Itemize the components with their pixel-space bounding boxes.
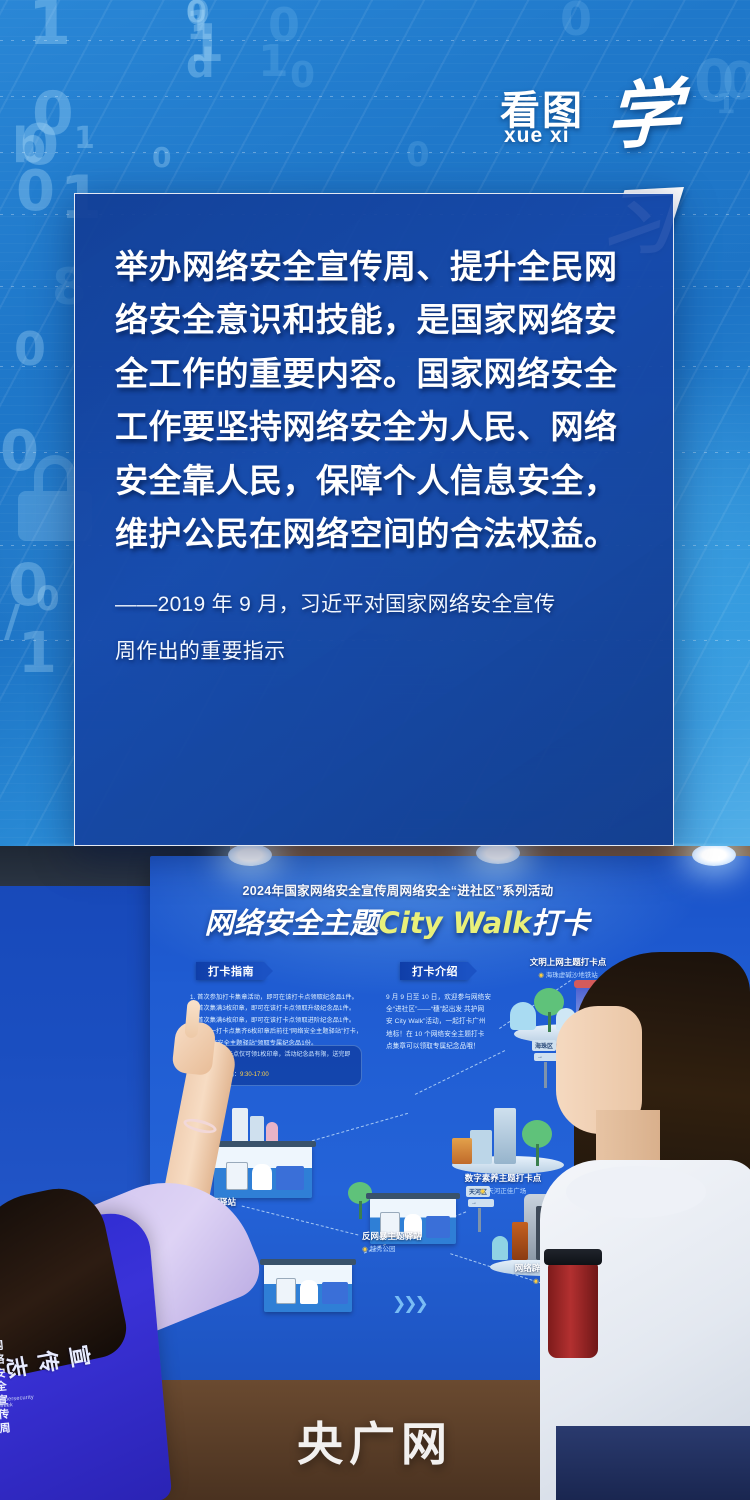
- binary-digit: 0: [8, 556, 48, 614]
- binary-digit: 1: [188, 18, 224, 70]
- binary-digit: /: [4, 600, 20, 644]
- binary-digit: 1: [28, 0, 71, 54]
- guide-time-value: 9:30-17:00: [240, 1072, 269, 1078]
- poi-5: 反网暴主题驿站 ◉ 越秀公园: [362, 1230, 492, 1253]
- binary-digit: 0: [186, 0, 210, 30]
- binary-digit: 0: [406, 138, 430, 172]
- poster-title-suffix: 打卡: [531, 906, 589, 940]
- guide-tag: 打卡指南: [196, 962, 264, 980]
- binary-digit: 0: [290, 58, 315, 94]
- intro-line: 地标！在 10 个网络安全主题打卡: [386, 1029, 506, 1041]
- poster-canvas: 1 1 d 0 1 0 0 0 b 1 0 0 1 8 0 0 0 0 / 1 …: [0, 0, 750, 1500]
- intro-line: 点集章可以领取专属纪念品哦！: [386, 1041, 506, 1053]
- coffee-cup: [548, 1262, 598, 1358]
- chevron-right-icon: ❯❯❯: [392, 1294, 426, 1314]
- guide-item: 2. 首次集满3枚印章，即可在该打卡点领取升级纪念品1件。: [190, 1003, 366, 1014]
- watermark: 央广网: [0, 1408, 750, 1474]
- binary-digit: 0: [36, 582, 60, 616]
- quote-line: 维护公民在网络空间的合法权益。: [115, 507, 633, 560]
- binary-digit: 0: [32, 84, 74, 144]
- poi-location: ◉ 越秀公园: [362, 1243, 492, 1253]
- binary-digit: d: [186, 44, 215, 84]
- binary-digit: 0: [152, 144, 171, 172]
- intro-line: 全“进社区”——“穗”起出发 共护网: [386, 1004, 506, 1016]
- pin-icon: ◉: [480, 1188, 486, 1195]
- pin-icon: ◉: [533, 1278, 539, 1285]
- intro-text: 9 月 9 日至 10 日，欢迎参与网络安 全“进社区”——“穗”起出发 共护网…: [386, 992, 506, 1053]
- binary-digit: 0: [560, 0, 592, 42]
- binary-digit: 1: [258, 40, 289, 84]
- poster-subtitle: 2024年国家网络安全宣传周网络安全“进社区”系列活动: [198, 880, 598, 899]
- pin-icon: ◉: [362, 1246, 368, 1253]
- quote-line: 络安全意识和技能，是国家网络安: [115, 293, 633, 346]
- signpost-label: 海珠区: [532, 1040, 556, 1051]
- binary-digit: 1: [186, 6, 214, 46]
- poi-location-text: 海珠虚碱沙地铁站: [546, 972, 598, 979]
- binary-digit: 1: [18, 626, 57, 682]
- guide-items: 1. 首次参加打卡集章活动，即可在该打卡点领取纪念品1件。 2. 首次集满3枚印…: [190, 992, 366, 1049]
- poster-title-highlight: City Walk: [379, 906, 532, 940]
- intro-line: 9 月 9 日至 10 日，欢迎参与网络安: [386, 992, 506, 1004]
- quote-attribution-line: 周作出的重要指示: [115, 632, 633, 673]
- binary-digit: 0: [20, 118, 59, 174]
- quote-line: 安全靠人民，保障个人信息安全，: [115, 454, 633, 507]
- quote-attribution-line: ——2019 年 9 月，习近平对国家网络安全宣传: [115, 585, 633, 626]
- quote-line: 举办网络安全宣传周、提升全民网: [115, 240, 633, 293]
- binary-digit: 0: [16, 164, 55, 220]
- guide-item: 1. 首次参加打卡集章活动，即可在该打卡点领取纪念品1件。: [190, 992, 366, 1003]
- signpost-arrow: →: [468, 1199, 494, 1207]
- brand-logo: 看图 学习 xue xi: [496, 62, 726, 167]
- visitor-collar: [566, 1166, 706, 1218]
- guide-item: 4. 在任一打卡点集齐6枚印章后前往“网络安全主题驿站”打卡，: [190, 1026, 366, 1037]
- poi-name: 反网暴主题驿站: [362, 1230, 492, 1242]
- intro-line: 安 City Walk”活动，一起打卡广州: [386, 1016, 506, 1028]
- dotted-rule: [0, 40, 750, 41]
- binary-digit: 0: [14, 326, 46, 372]
- quote-line: 全工作的重要内容。国家网络安全: [115, 347, 633, 400]
- poster-title: 网络安全主题City Walk打卡: [182, 900, 612, 942]
- poi-location-text: 越秀公园: [369, 1246, 395, 1253]
- quote-line: 工作要坚持网络安全为人民、网络: [115, 400, 633, 453]
- binary-digit: 0: [0, 424, 39, 480]
- binary-digit: 1: [74, 124, 95, 154]
- binary-digit: 0: [186, 0, 207, 28]
- poi-location-text: 天河正佳广场: [487, 1188, 526, 1195]
- guide-item: 3. 首次集满6枚印章，即可在该打卡点领取进阶纪念品1件。: [190, 1015, 366, 1026]
- logo-pinyin-text: xue xi: [504, 124, 570, 148]
- pin-icon: ◉: [538, 972, 544, 979]
- binary-digit: 0: [268, 2, 300, 48]
- quote-card: 举办网络安全宣传周、提升全民网 络安全意识和技能，是国家网络安 全工作的重要内容…: [74, 193, 674, 846]
- binary-digit: b: [12, 122, 46, 170]
- intro-tag: 打卡介绍: [400, 962, 468, 980]
- poster-title-prefix: 网络安全主题: [205, 906, 379, 940]
